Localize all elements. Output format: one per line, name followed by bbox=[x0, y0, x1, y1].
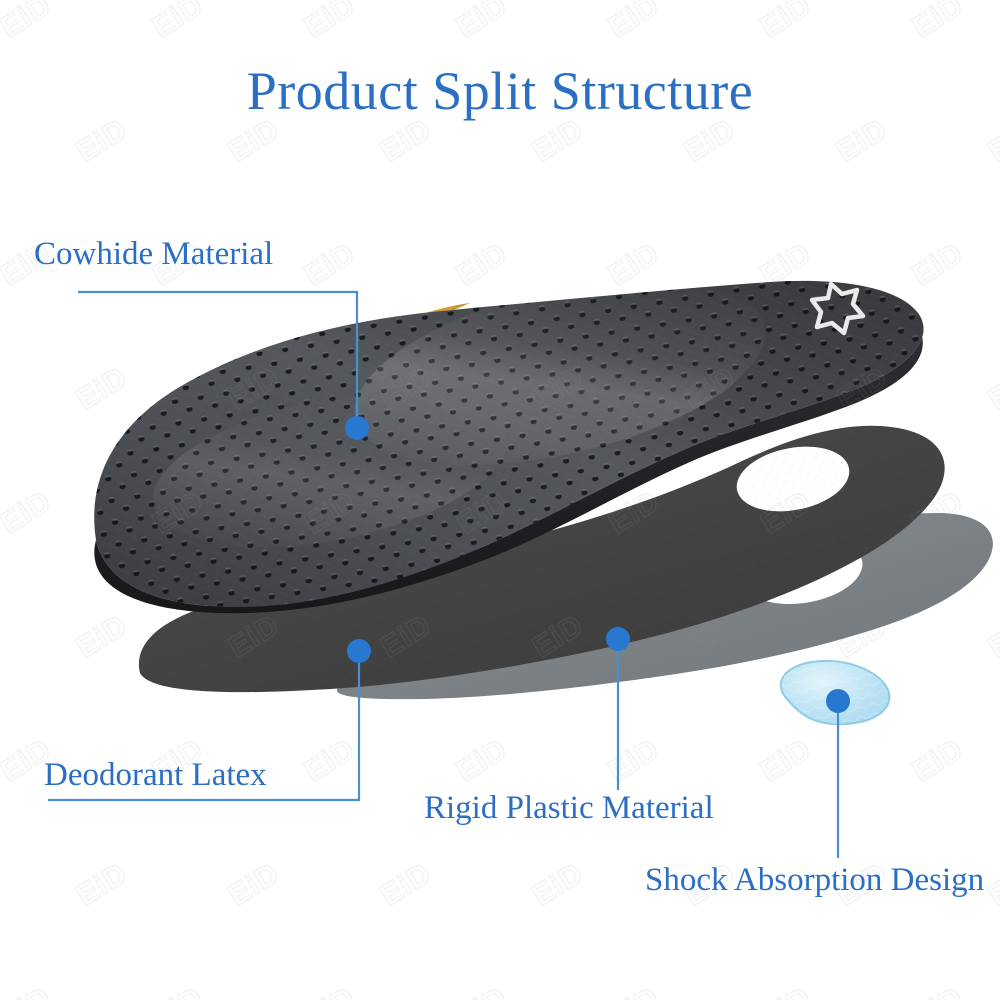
page-title: Product Split Structure bbox=[0, 60, 1000, 122]
callout-label-cowhide: Cowhide Material bbox=[34, 236, 273, 273]
callout-label-deodorant-latex: Deodorant Latex bbox=[44, 757, 267, 794]
layer-gel-pad bbox=[781, 661, 890, 724]
callout-label-shock-absorption: Shock Absorption Design bbox=[645, 862, 984, 899]
callout-label-rigid-plastic: Rigid Plastic Material bbox=[424, 790, 714, 827]
product-illustration bbox=[0, 0, 1000, 1000]
infographic-canvas: EiDEiDEiDEiDEiDEiDEiDEiDEiDEiDEiDEiDEiDE… bbox=[0, 0, 1000, 1000]
